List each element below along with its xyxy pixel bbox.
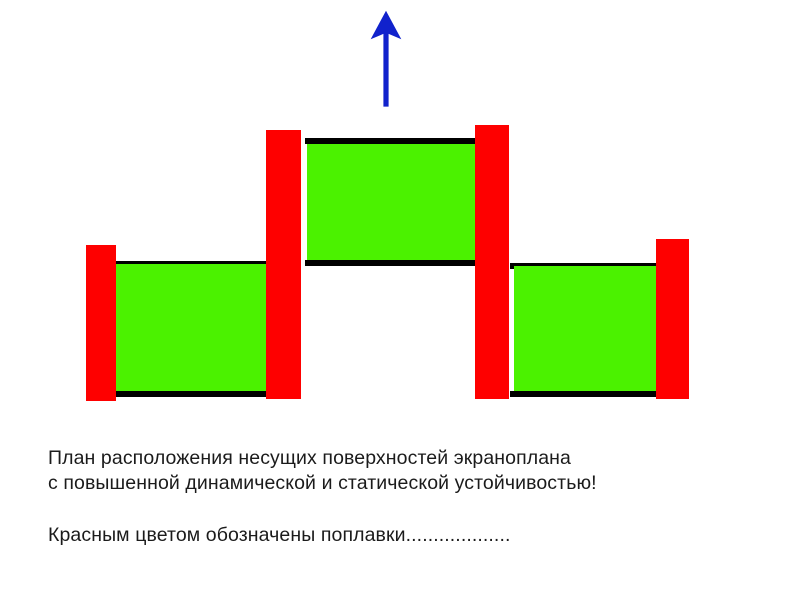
arrow-up-icon — [360, 8, 412, 112]
wing-right — [514, 266, 659, 393]
float-inner-left — [266, 130, 301, 399]
float-inner-right — [475, 125, 509, 399]
wing-left-trailing-edge — [115, 391, 268, 397]
caption-line-1: План расположения несущих поверхностей э… — [48, 446, 748, 471]
float-outer-left — [86, 245, 116, 401]
direction-of-flight-arrow — [360, 8, 412, 112]
caption-spacer — [48, 496, 748, 523]
diagram-canvas: План расположения несущих поверхностей э… — [0, 0, 800, 600]
caption-line-2: с повышенной динамической и статической … — [48, 471, 748, 496]
wing-right-trailing-edge — [510, 391, 660, 397]
wing-center-trailing-edge — [305, 260, 477, 266]
wing-center — [307, 144, 476, 261]
float-outer-right — [656, 239, 689, 399]
caption-block: План расположения несущих поверхностей э… — [48, 446, 748, 548]
wing-left — [115, 264, 267, 393]
arrow-up-path — [372, 12, 400, 106]
caption-line-3: Красным цветом обозначены поплавки......… — [48, 523, 748, 548]
